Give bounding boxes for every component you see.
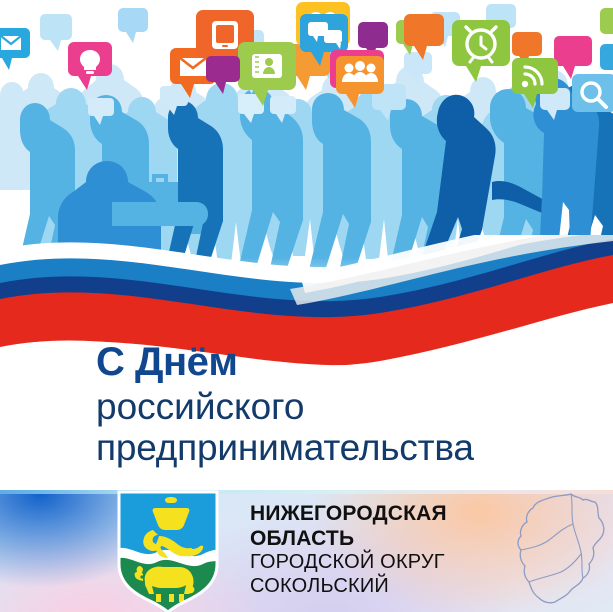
headline-block: С Днём российского предпринимательства (96, 342, 613, 469)
speech-bubbles-group (0, 0, 613, 140)
bubble-plain-pink2 (554, 36, 592, 79)
bubble-lightbulb-icon (68, 42, 112, 90)
bubble-plain (270, 96, 296, 123)
bubble-search-icon (572, 74, 613, 112)
bubble-plain (88, 98, 114, 125)
headline-line-1: С Днём (96, 342, 613, 382)
bubble-plain (118, 8, 148, 43)
bubble-plain (160, 86, 188, 115)
bubble-alarm-clock-icon (452, 20, 510, 82)
banner-line-region-2: ОБЛАСТЬ (250, 527, 500, 552)
bubble-plain-magenta (206, 56, 240, 94)
bubble-envelope-icon (0, 28, 30, 70)
bubble-plain (40, 14, 72, 51)
bubble-plain-green2 (600, 8, 613, 34)
nizhny-novgorod-region-map (505, 492, 613, 612)
sokolsky-coat-of-arms (113, 490, 223, 612)
headline-line-3: предпринимательства (96, 427, 613, 468)
bubble-plain (404, 52, 432, 84)
poster-root: С Днём российского предпринимательства (0, 0, 613, 612)
banner-line-region-1: НИЖЕГОРОДСКАЯ (250, 502, 500, 527)
bottom-banner: НИЖЕГОРОДСКАЯ ОБЛАСТЬ ГОРОДСКОЙ ОКРУГ СО… (0, 490, 613, 612)
banner-line-district-1: ГОРОДСКОЙ ОКРУГ (250, 551, 500, 574)
banner-line-district-2: СОКОЛЬСКИЙ (250, 575, 500, 598)
bubble-plain-blue-edge (600, 44, 613, 70)
banner-text-block: НИЖЕГОРОДСКАЯ ОБЛАСТЬ ГОРОДСКОЙ ОКРУГ СО… (250, 502, 500, 598)
headline-line-2: российского (96, 386, 613, 427)
